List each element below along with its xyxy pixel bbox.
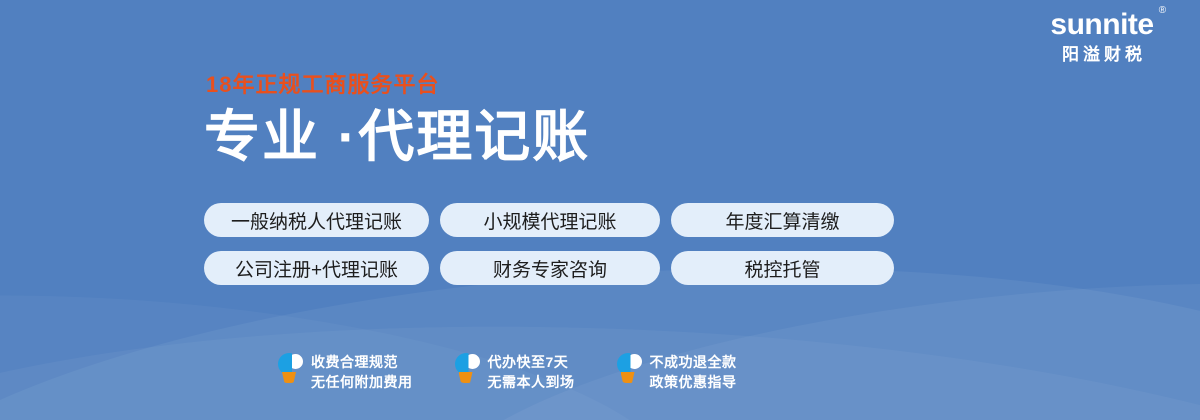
service-tag-expert-consulting[interactable]: 财务专家咨询 — [440, 251, 660, 285]
logo-chinese-name: 阳溢财税 — [1018, 44, 1186, 66]
background-wave-ellipse-left — [0, 262, 689, 420]
feature-line-2: 无需本人到场 — [488, 372, 575, 392]
feature-line-1: 不成功退全款 — [650, 352, 737, 372]
feature-text-pricing: 收费合理规范 无任何附加费用 — [311, 352, 413, 392]
brand-logo[interactable]: sunnite ® 阳溢财税 — [1018, 8, 1186, 66]
feature-item-pricing: 收费合理规范 无任何附加费用 — [278, 352, 413, 392]
service-tag-row-2: 公司注册+代理记账 财务专家咨询 税控托管 — [204, 251, 894, 285]
lightbulb-base — [282, 372, 296, 383]
registered-trademark-icon: ® — [1159, 6, 1166, 16]
feature-text-speed: 代办快至7天 无需本人到场 — [488, 352, 575, 392]
service-tag-annual-settlement[interactable]: 年度汇算清缴 — [671, 203, 894, 237]
service-tag-tax-control-hosting[interactable]: 税控托管 — [671, 251, 894, 285]
feature-line-2: 无任何附加费用 — [311, 372, 413, 392]
lightbulb-icon — [278, 353, 304, 387]
service-tag-row-1: 一般纳税人代理记账 小规模代理记账 年度汇算清缴 — [204, 203, 894, 237]
feature-item-guarantee: 不成功退全款 政策优惠指导 — [617, 352, 737, 392]
hero-headline: 专业 ·代理记账 — [204, 106, 590, 168]
feature-highlight-list: 收费合理规范 无任何附加费用 代办快至7天 无需本人到场 不成功退全款 — [278, 352, 737, 392]
service-tag-small-scale[interactable]: 小规模代理记账 — [440, 203, 660, 237]
logo-wordmark-text: sunnite — [1050, 8, 1153, 41]
hero-copy: 18年正规工商服务平台 专业 ·代理记账 — [204, 72, 590, 168]
promo-banner: sunnite ® 阳溢财税 18年正规工商服务平台 专业 ·代理记账 一般纳税… — [0, 0, 1200, 420]
lightbulb-base — [459, 372, 473, 383]
lightbulb-icon — [617, 353, 643, 387]
lightbulb-base — [621, 372, 635, 383]
logo-wordmark: sunnite ® — [1050, 8, 1153, 42]
feature-line-1: 收费合理规范 — [311, 352, 413, 372]
feature-line-1: 代办快至7天 — [488, 352, 575, 372]
service-tag-company-registration[interactable]: 公司注册+代理记账 — [204, 251, 429, 285]
feature-text-guarantee: 不成功退全款 政策优惠指导 — [650, 352, 737, 392]
feature-line-2: 政策优惠指导 — [650, 372, 737, 392]
lightbulb-icon — [455, 353, 481, 387]
service-tag-list: 一般纳税人代理记账 小规模代理记账 年度汇算清缴 公司注册+代理记账 财务专家咨… — [204, 203, 894, 285]
feature-item-speed: 代办快至7天 无需本人到场 — [455, 352, 575, 392]
service-tag-general-taxpayer[interactable]: 一般纳税人代理记账 — [204, 203, 429, 237]
hero-kicker: 18年正规工商服务平台 — [206, 72, 590, 98]
